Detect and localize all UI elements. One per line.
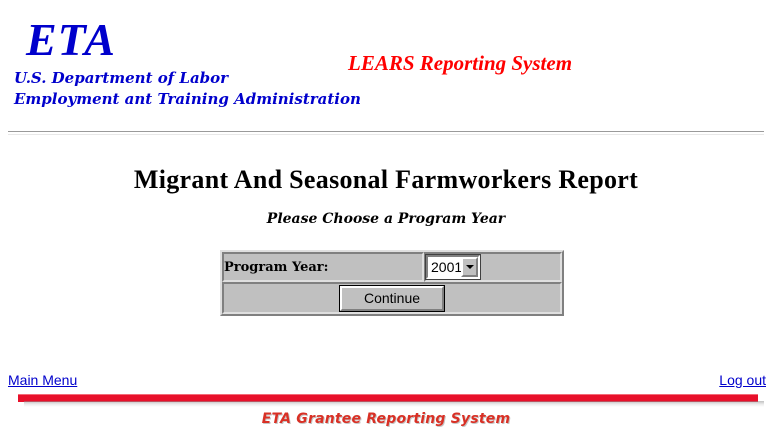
agency-line-administration: Employment ant Training Administration: [14, 89, 361, 110]
header-divider: [8, 131, 764, 135]
page-title: Migrant And Seasonal Farmworkers Report: [0, 165, 772, 195]
table-row-program-year: Program Year: 2001: [222, 252, 562, 282]
submit-cell: Continue: [222, 282, 562, 314]
program-year-select[interactable]: 2001: [426, 255, 480, 279]
chevron-down-icon[interactable]: [461, 257, 478, 277]
eta-logo: ETA: [26, 17, 116, 63]
agency-name-block: U.S. Department of Labor Employment ant …: [14, 68, 361, 110]
agency-line-department: U.S. Department of Labor: [14, 68, 361, 89]
program-year-selected-value: 2001: [431, 258, 462, 276]
footer-tagline: ETA Grantee Reporting System: [0, 411, 772, 427]
footer-divider-shadow: [24, 401, 764, 407]
page-subtitle: Please Choose a Program Year: [0, 211, 772, 227]
program-year-field-cell: 2001: [424, 252, 562, 282]
program-year-form: Program Year: 2001 Continue: [220, 250, 564, 316]
main-menu-link[interactable]: Main Menu: [8, 372, 77, 388]
continue-button[interactable]: Continue: [340, 286, 444, 311]
program-year-label: Program Year:: [222, 252, 424, 282]
system-title: LEARS Reporting System: [348, 51, 572, 76]
page-header: ETA U.S. Department of Labor Employment …: [0, 0, 772, 127]
table-row-submit: Continue: [222, 282, 562, 314]
log-out-link[interactable]: Log out: [719, 372, 766, 388]
